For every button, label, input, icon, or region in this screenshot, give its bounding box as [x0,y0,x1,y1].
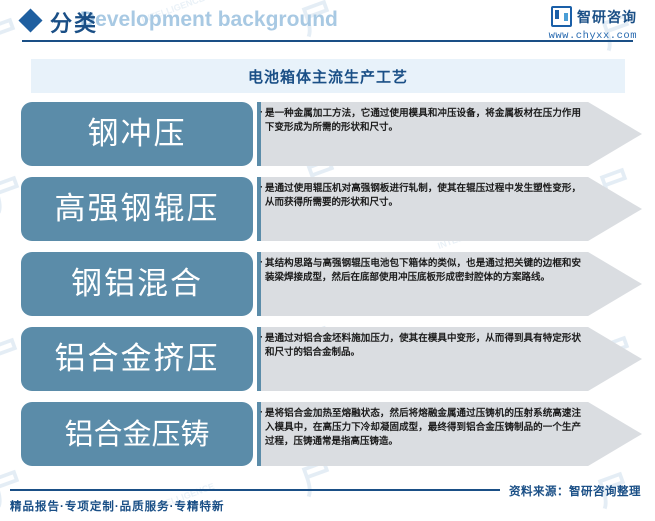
list-item: 钢铝混合 其结构思路与高强钢辊压电池包下箱体的类似，也是通过把关键的边框和安装梁… [0,246,655,317]
chart-title: 电池箱体主流生产工艺 [248,66,408,87]
process-label-box[interactable]: 钢铝混合 [21,252,253,316]
process-description-arrow: 是通过使用辊压机对高强钢板进行轧制，使其在辊压过程中发生塑性变形，从而获得所需要… [257,177,642,241]
process-description: 是通过对铝合金坯料施加压力，使其在模具中变形，从而得到具有特定形状和尺寸的铝合金… [265,332,581,360]
process-label: 高强钢辊压 [55,194,220,225]
chart-title-band: 电池箱体主流生产工艺 [31,59,625,93]
process-description-arrow: 其结构思路与高强钢辊压电池包下箱体的类似，也是通过把关键的边框和安装梁焊接成型，… [257,252,642,316]
process-list: 钢冲压 是一种金属加工方法，它通过使用模具和冲压设备，将金属板材在压力作用下变形… [0,96,655,471]
process-label-box[interactable]: 铝合金压铸 [21,402,253,466]
process-description-arrow: 是将铝合金加热至熔融状态，然后将熔融金属通过压铸机的压射系统高速注入模具中，在高… [257,402,642,466]
chyxx-logo-icon [551,6,572,27]
process-label: 钢冲压 [88,119,187,150]
process-description-arrow: 是一种金属加工方法，它通过使用模具和冲压设备，将金属板材在压力作用下变形成为所需… [257,102,642,166]
footer-divider [10,489,500,491]
brand-url[interactable]: www.chyxx.com [549,30,637,42]
page-header: Development background 分类 智研咨询 www.chyxx… [0,0,655,46]
process-label: 钢铝混合 [71,269,203,300]
list-item: 铝合金挤压 是通过对铝合金坯料施加压力，使其在模具中变形，从而得到具有特定形状和… [0,321,655,392]
process-label-box[interactable]: 高强钢辊压 [21,177,253,241]
process-description: 其结构思路与高强钢辊压电池包下箱体的类似，也是通过把关键的边框和安装梁焊接成型，… [265,257,581,285]
process-label-box[interactable]: 钢冲压 [21,102,253,166]
list-item: 钢冲压 是一种金属加工方法，它通过使用模具和冲压设备，将金属板材在压力作用下变形… [0,96,655,167]
header-divider [22,40,633,42]
process-label-box[interactable]: 铝合金挤压 [21,327,253,391]
list-item: 高强钢辊压 是通过使用辊压机对高强钢板进行轧制，使其在辊压过程中发生塑性变形，从… [0,171,655,242]
process-description: 是一种金属加工方法，它通过使用模具和冲压设备，将金属板材在压力作用下变形成为所需… [265,107,581,135]
process-label: 铝合金压铸 [64,420,209,449]
footer-slogan: 精品报告·专项定制·品质服务·专精特新 [10,498,225,514]
process-description: 是通过使用辊压机对高强钢板进行轧制，使其在辊压过程中发生塑性变形，从而获得所需要… [265,182,581,210]
brand-block: 智研咨询 www.chyxx.com [549,6,637,42]
page-footer: 精品报告·专项定制·品质服务·专精特新 资料来源：智研咨询整理 [0,477,655,521]
diamond-icon [18,8,42,32]
process-description: 是将铝合金加热至熔融状态，然后将熔融金属通过压铸机的压射系统高速注入模具中，在高… [265,407,581,448]
list-item: 铝合金压铸 是将铝合金加热至熔融状态，然后将熔融金属通过压铸机的压射系统高速注入… [0,396,655,467]
brand-name: 智研咨询 [577,7,637,27]
process-description-arrow: 是通过对铝合金坯料施加压力，使其在模具中变形，从而得到具有特定形状和尺寸的铝合金… [257,327,642,391]
page-title: 分类 [50,6,98,38]
footer-source: 资料来源：智研咨询整理 [509,483,641,499]
header-background-text: Development background [80,8,338,32]
process-label: 铝合金挤压 [55,344,220,375]
